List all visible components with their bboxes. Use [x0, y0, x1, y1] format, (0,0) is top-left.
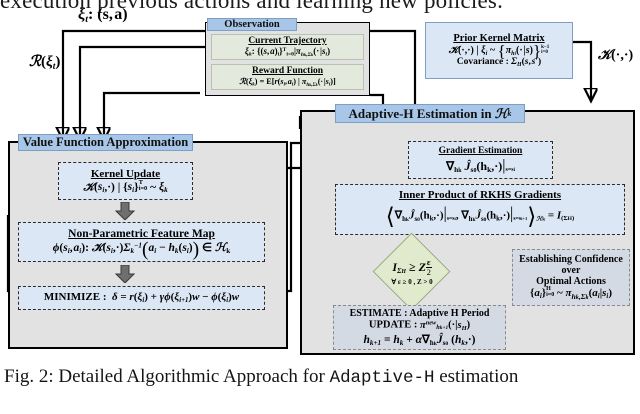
- inner-product-box: Inner Product of RKHS Gradients ⟨∇hkĴs0(…: [335, 184, 625, 235]
- estimate-line1: ESTIMATE : Adaptive H Period: [350, 308, 490, 319]
- gradient-estimation-box: Gradient Estimation ∇hk Ĵs0(hk,·)|s=si: [408, 141, 553, 179]
- confidence-line4: {ai}Hi=0 ~ πhk,Σk(ai|si): [530, 287, 612, 300]
- value-function-title: Value Function Approximation: [18, 134, 193, 151]
- feature-map-heading: Non-Parametric Feature Map: [68, 228, 215, 240]
- prior-kernel-matrix-box: Prior Kernel Matrix 𝒦(·,·) | ξi ~ {πhi(·…: [425, 22, 573, 79]
- confidence-box: Establishing Confidence over Optimal Act…: [512, 249, 630, 306]
- minimize-formula: MINIMIZE : δ = r(ξi) + γϕ(ξi+1)w − ϕ(ξi)…: [44, 291, 239, 304]
- figure-caption: Fig. 2: Detailed Algorithmic Approach fo…: [4, 366, 638, 388]
- feature-map-box: Non-Parametric Feature Map ϕ(si, ai): 𝒦(…: [18, 222, 265, 262]
- edge-label-reward: ℛ(ξt): [29, 52, 60, 72]
- kernel-update-heading: Kernel Update: [91, 168, 160, 180]
- current-trajectory-box: Current Trajectory ξk: {(s, a)i}Ti=0|πhk…: [211, 34, 364, 60]
- prior-kernel-line1: 𝒦(·,·) | ξi ~ {πhi(· |s)}k−1i=0: [449, 45, 550, 57]
- prior-kernel-line2: Covariance : ΣH(s, s′): [457, 57, 541, 68]
- edge-label-trajectory: ξt: (s, a): [78, 6, 128, 25]
- inner-product-formula: ⟨∇hkĴs0(hk,·)|s=si, ∇hkĴs0(hk,·)|s=si+1⟩…: [386, 203, 575, 230]
- confidence-line2: over: [562, 265, 581, 276]
- reward-function-box: Reward Function ℛ(ξk) = E[r(si, ai) | πh…: [211, 64, 364, 90]
- current-trajectory-formula: ξk: {(s, a)i}Ti=0|πhk,Σk(· |si): [245, 46, 330, 58]
- current-trajectory-heading: Current Trajectory: [248, 36, 326, 46]
- caption-suffix: estimation: [434, 366, 518, 387]
- gradient-estimation-formula: ∇hk Ĵs0(hk,·)|s=si: [446, 156, 515, 175]
- caption-prefix: Fig. 2: Detailed Algorithmic Approach fo…: [4, 366, 330, 387]
- inner-product-heading: Inner Product of RKHS Gradients: [399, 189, 561, 201]
- caption-mono: Adaptive-H: [330, 368, 435, 388]
- estimate-update-box: ESTIMATE : Adaptive H Period UPDATE : πn…: [333, 305, 506, 350]
- edge-label-kernel: 𝒦(·,·): [598, 48, 633, 64]
- gradient-estimation-heading: Gradient Estimation: [439, 146, 523, 156]
- decision-constraint: ∀ ε ≥ 0 , Z > 0: [391, 278, 432, 286]
- kernel-update-formula: 𝒦(si,·) | {si}Ti=0 ~ ξk: [83, 180, 167, 194]
- adaptive-h-title: Adaptive-H Estimation in ℋk: [335, 104, 525, 123]
- feature-map-formula: ϕ(si, ai): 𝒦(si,·)Σk−1(ai − hk(si)) ∈ ℋk: [53, 240, 231, 255]
- kernel-update-box: Kernel Update 𝒦(si,·) | {si}Ti=0 ~ ξk: [58, 162, 193, 200]
- flow-arrow-2: [115, 265, 135, 283]
- decision-diamond-label: IΣH ≥ Zε2 ∀ ε ≥ 0 , Z > 0: [357, 252, 467, 292]
- estimate-line2: UPDATE : πnewhk+1(·|sH): [369, 319, 470, 331]
- estimate-line3: hk+1 = hk + α∇hkĴs0 (hk,·): [363, 332, 475, 347]
- observation-title: Observation: [207, 18, 297, 31]
- confidence-line1: Establishing Confidence: [519, 254, 623, 265]
- minimize-box: MINIMIZE : δ = r(ξi) + γϕ(ξi+1)w − ϕ(ξi)…: [18, 286, 265, 310]
- reward-function-formula: ℛ(ξk) = E[r(si, ai) | πhk,Σk(· |si)]: [239, 76, 335, 88]
- decision-condition: IΣH ≥ Zε2: [392, 258, 431, 277]
- figure-canvas: execution previous actions and learning …: [0, 0, 640, 414]
- reward-function-heading: Reward Function: [252, 66, 323, 76]
- flow-arrow-1: [115, 202, 135, 220]
